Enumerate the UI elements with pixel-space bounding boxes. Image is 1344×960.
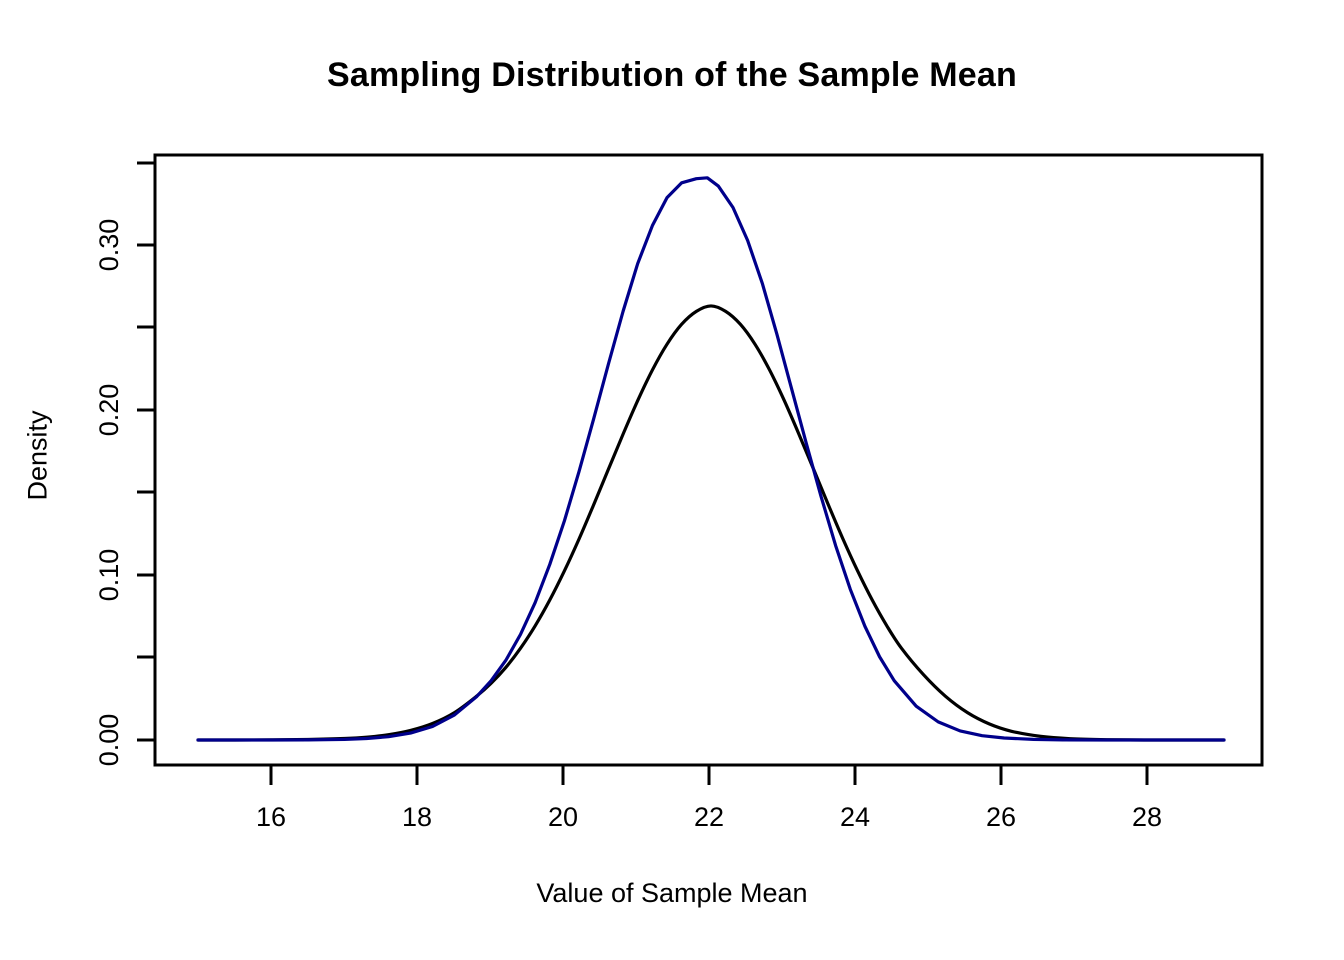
normal-curve — [198, 306, 1224, 740]
y-axis-tick-labels: 0.30 0.20 0.10 0.00 — [94, 219, 124, 767]
x-tick-label-4: 24 — [840, 802, 870, 832]
x-tick-label-6: 28 — [1132, 802, 1162, 832]
x-tick-label-0: 16 — [256, 802, 286, 832]
x-tick-label-5: 26 — [986, 802, 1016, 832]
y-axis-label: Density — [23, 356, 54, 556]
x-axis-ticks — [271, 765, 1147, 785]
x-tick-label-2: 20 — [548, 802, 578, 832]
x-tick-label-1: 18 — [402, 802, 432, 832]
plot-figure: Sampling Distribution of the Sample Mean… — [0, 0, 1344, 960]
density-curve — [198, 178, 1224, 740]
x-axis-tick-labels: 16 18 20 22 24 26 28 — [256, 802, 1162, 832]
y-tick-label-0: 0.30 — [94, 219, 124, 272]
y-tick-label-2: 0.10 — [94, 549, 124, 602]
plot-canvas: 0.30 0.20 0.10 0.00 16 18 20 22 24 — [0, 0, 1344, 960]
y-tick-label-3: 0.00 — [94, 714, 124, 767]
x-axis-label: Value of Sample Mean — [0, 878, 1344, 909]
y-tick-label-1: 0.20 — [94, 384, 124, 437]
y-axis-ticks — [137, 163, 155, 740]
x-tick-label-3: 22 — [694, 802, 724, 832]
plot-box — [155, 155, 1262, 765]
x-axis: 16 18 20 22 24 26 28 — [155, 765, 1262, 832]
